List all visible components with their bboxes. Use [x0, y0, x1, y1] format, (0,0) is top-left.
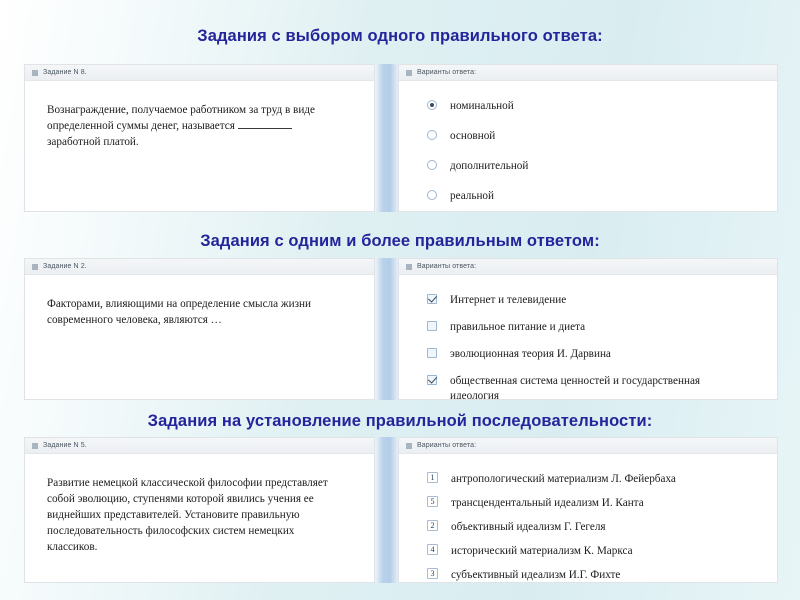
option-row[interactable]: 1 антропологический материализм Л. Фейер… — [427, 472, 765, 487]
option-row[interactable]: основной — [427, 129, 765, 144]
order-option-list: 1 антропологический материализм Л. Фейер… — [427, 472, 765, 583]
option-label: антропологический материализм Л. Фейерба… — [451, 472, 676, 487]
option-row[interactable]: номинальной — [427, 99, 765, 114]
question-panel-2-title: Задание N 2. — [43, 263, 87, 270]
question-text-2: Факторами, влияющими на определение смыс… — [47, 297, 347, 329]
panel-marker-icon — [32, 70, 38, 76]
order-number-input[interactable]: 5 — [427, 496, 438, 507]
radio-icon[interactable] — [427, 130, 437, 140]
answers-panel-1: Варианты ответа: номинальной основной до… — [398, 64, 778, 212]
option-row[interactable]: 3 субъективный идеализм И.Г. Фихте — [427, 568, 765, 583]
question-text-1-part-2: заработной платой. — [47, 136, 139, 148]
checkbox-option-list: Интернет и телевидение правильное питани… — [427, 293, 765, 400]
option-label: общественная система ценностей и государ… — [450, 374, 735, 400]
question-panel-3-title: Задание N 5. — [43, 442, 87, 449]
answers-panel-1-body: номинальной основной дополнительной реал… — [399, 81, 777, 212]
answers-panel-2-title: Варианты ответа: — [417, 263, 476, 270]
slide-canvas: Задания с выбором одного правильного отв… — [0, 0, 800, 600]
answers-panel-3-header: Варианты ответа: — [399, 438, 777, 454]
question-panel-3: Задание N 5. Развитие немецкой классичес… — [24, 437, 375, 583]
panel-divider-1 — [375, 64, 398, 212]
order-number-input[interactable]: 3 — [427, 568, 438, 579]
checkbox-icon-checked[interactable] — [427, 375, 437, 385]
question-panel-3-body: Развитие немецкой классической философии… — [25, 454, 374, 582]
question-panel-1: Задание N 8. Вознаграждение, получаемое … — [24, 64, 375, 212]
panel-marker-icon — [32, 264, 38, 270]
answer-blank — [238, 128, 292, 129]
question-panel-2-body: Факторами, влияющими на определение смыс… — [25, 275, 374, 399]
option-label: субъективный идеализм И.Г. Фихте — [451, 568, 620, 583]
option-label: Интернет и телевидение — [450, 293, 566, 308]
question-panel-1-header: Задание N 8. — [25, 65, 374, 81]
checkbox-icon[interactable] — [427, 321, 437, 331]
option-row[interactable]: правильное питание и диета — [427, 320, 765, 335]
option-row[interactable]: 5 трансцендентальный идеализм И. Канта — [427, 496, 765, 511]
panel-marker-icon — [406, 70, 412, 76]
option-row[interactable]: реальной — [427, 189, 765, 204]
question-panel-2-header: Задание N 2. — [25, 259, 374, 275]
question-text-1: Вознаграждение, получаемое работником за… — [47, 103, 347, 151]
radio-icon[interactable] — [427, 190, 437, 200]
panel-divider-3 — [375, 437, 398, 583]
option-label: трансцендентальный идеализм И. Канта — [451, 496, 644, 511]
option-row[interactable]: эволюционная теория И. Дарвина — [427, 347, 765, 362]
section-heading-multi-choice: Задания с одним и более правильным ответ… — [0, 232, 800, 251]
option-row[interactable]: 2 объективный идеализм Г. Гегеля — [427, 520, 765, 535]
panel-divider-2 — [375, 258, 398, 400]
option-label: номинальной — [450, 99, 514, 114]
answers-panel-3: Варианты ответа: 1 антропологический мат… — [398, 437, 778, 583]
panel-marker-icon — [406, 264, 412, 270]
question-panel-1-body: Вознаграждение, получаемое работником за… — [25, 81, 374, 211]
question-block-multi-choice: Задание N 2. Факторами, влияющими на опр… — [24, 258, 778, 400]
order-number-input[interactable]: 1 — [427, 472, 438, 483]
question-block-sequence: Задание N 5. Развитие немецкой классичес… — [24, 437, 778, 583]
option-row[interactable]: Интернет и телевидение — [427, 293, 765, 308]
question-panel-2: Задание N 2. Факторами, влияющими на опр… — [24, 258, 375, 400]
option-label: дополнительной — [450, 159, 528, 174]
question-block-single-choice: Задание N 8. Вознаграждение, получаемое … — [24, 64, 778, 212]
section-heading-single-choice: Задания с выбором одного правильного отв… — [0, 27, 800, 46]
radio-option-list: номинальной основной дополнительной реал… — [427, 99, 765, 204]
answers-panel-2-body: Интернет и телевидение правильное питани… — [399, 275, 777, 400]
option-label: объективный идеализм Г. Гегеля — [451, 520, 606, 535]
radio-icon[interactable] — [427, 160, 437, 170]
order-number-input[interactable]: 2 — [427, 520, 438, 531]
option-label: реальной — [450, 189, 494, 204]
answers-panel-3-title: Варианты ответа: — [417, 442, 476, 449]
option-label: основной — [450, 129, 495, 144]
order-number-input[interactable]: 4 — [427, 544, 438, 555]
panel-marker-icon — [32, 443, 38, 449]
checkbox-icon[interactable] — [427, 348, 437, 358]
answers-panel-2-header: Варианты ответа: — [399, 259, 777, 275]
answers-panel-1-header: Варианты ответа: — [399, 65, 777, 81]
answers-panel-1-title: Варианты ответа: — [417, 69, 476, 76]
option-label: эволюционная теория И. Дарвина — [450, 347, 611, 362]
option-row[interactable]: 4 исторический материализм К. Маркса — [427, 544, 765, 559]
answers-panel-3-body: 1 антропологический материализм Л. Фейер… — [399, 454, 777, 583]
radio-icon-selected[interactable] — [427, 100, 437, 110]
question-panel-1-title: Задание N 8. — [43, 69, 87, 76]
question-text-3: Развитие немецкой классической философии… — [47, 476, 347, 556]
checkbox-icon-checked[interactable] — [427, 294, 437, 304]
option-row[interactable]: общественная система ценностей и государ… — [427, 374, 765, 400]
option-label: правильное питание и диета — [450, 320, 585, 335]
panel-marker-icon — [406, 443, 412, 449]
option-row[interactable]: дополнительной — [427, 159, 765, 174]
answers-panel-2: Варианты ответа: Интернет и телевидение … — [398, 258, 778, 400]
option-label: исторический материализм К. Маркса — [451, 544, 633, 559]
section-heading-sequence: Задания на установление правильной после… — [0, 412, 800, 431]
question-panel-3-header: Задание N 5. — [25, 438, 374, 454]
